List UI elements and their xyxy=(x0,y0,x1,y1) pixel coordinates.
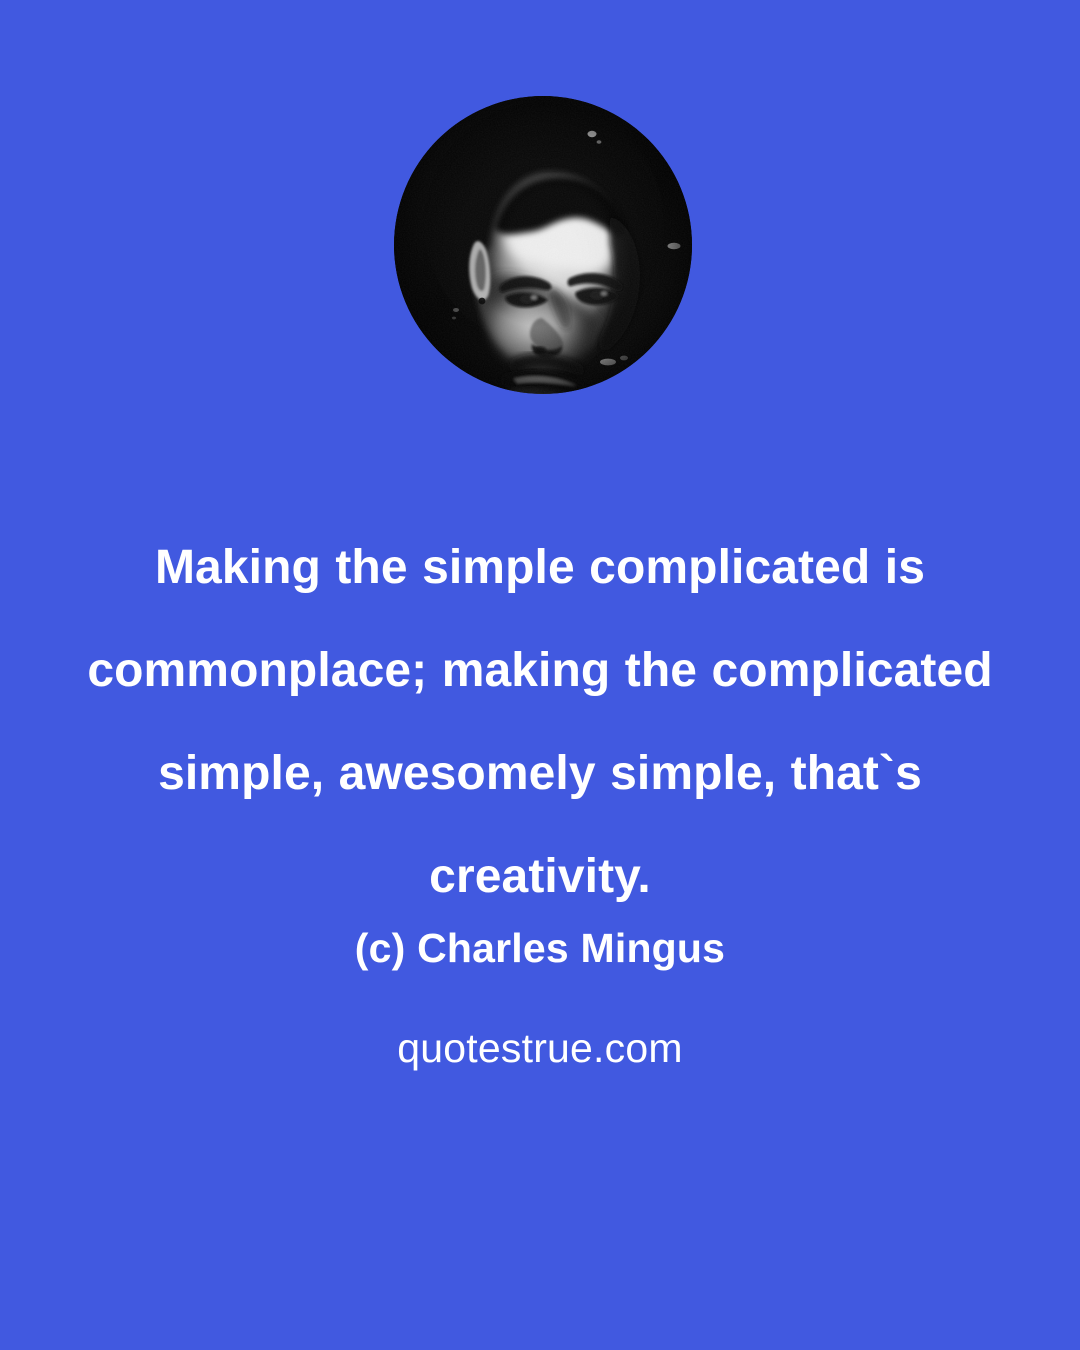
quote-line-4: creativity. xyxy=(70,825,1010,928)
quote-text: Making the simple complicated is commonp… xyxy=(70,516,1010,928)
portrait-photo xyxy=(394,96,692,394)
quote-line-3: simple, awesomely simple, that`s xyxy=(70,722,1010,825)
quote-line-1: Making the simple complicated is xyxy=(70,516,1010,619)
source-website[interactable]: quotestrue.com xyxy=(0,1025,1080,1072)
portrait-photo-icon xyxy=(394,96,692,394)
quote-line-2: commonplace; making the complicated xyxy=(70,619,1010,722)
quote-attribution: (c) Charles Mingus xyxy=(0,925,1080,972)
quote-card: Making the simple complicated is commonp… xyxy=(0,0,1080,1350)
